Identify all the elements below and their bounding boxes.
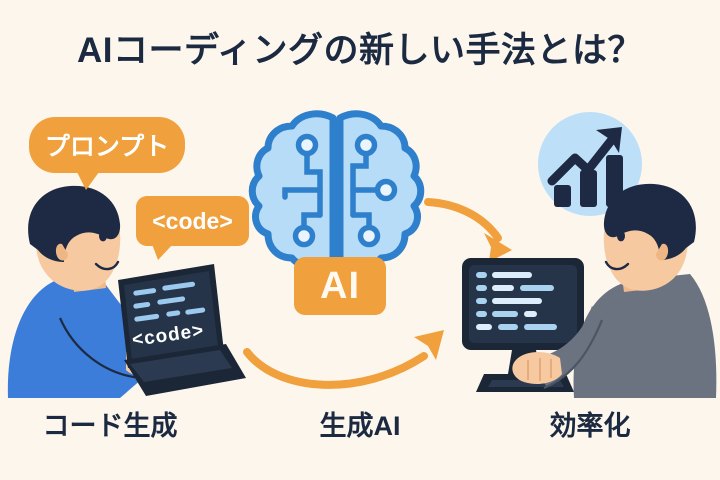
infographic-canvas: AIコーディングの新しい手法とは？ <box>0 0 720 480</box>
arrow-curved-down <box>428 202 512 262</box>
speech-bubble-code: <code> <box>136 196 249 246</box>
brain-node-1 <box>299 137 316 154</box>
brain-node-2 <box>296 228 313 245</box>
brain-node-5 <box>361 228 378 245</box>
left-person-eye <box>99 231 107 242</box>
speech-bubble-prompt-label: プロンプト <box>45 127 169 163</box>
chart-bar-2 <box>580 170 597 207</box>
arrow-curved-up <box>247 330 444 385</box>
brain-circuit-icon <box>252 114 421 267</box>
brain-node-4 <box>378 182 395 199</box>
caption-generative-ai: 生成AI <box>250 404 470 443</box>
speech-bubble-code-label: <code> <box>152 208 233 235</box>
caption-code-generation: コード生成 <box>0 404 220 443</box>
chart-bar-1 <box>554 185 571 207</box>
caption-efficiency: 効率化 <box>480 404 700 443</box>
right-person-hand <box>512 352 562 384</box>
ai-badge: AI <box>294 257 386 315</box>
brain-node-3 <box>358 137 375 154</box>
right-person-eye <box>617 231 625 242</box>
speech-bubble-prompt: プロンプト <box>29 117 185 173</box>
laptop: <code> <box>118 264 246 396</box>
ai-badge-label: AI <box>320 265 360 308</box>
